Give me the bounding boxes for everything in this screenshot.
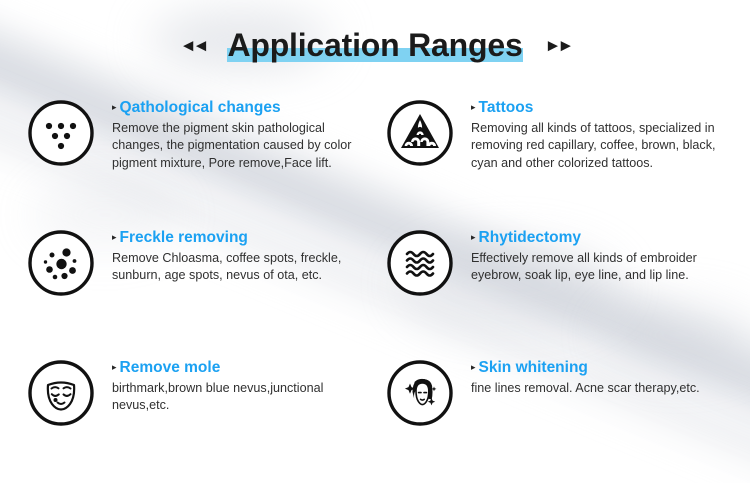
application-ranges-grid: ▸Qathological changes Remove the pigment… xyxy=(0,92,750,472)
bullet-icon: ▸ xyxy=(112,102,117,112)
bullet-icon: ▸ xyxy=(471,102,476,112)
feature-heading-label: Skin whitening xyxy=(479,359,588,376)
double-right-arrow-icon: ►► xyxy=(545,37,571,54)
feature-heading: ▸Rhytidectomy xyxy=(471,228,734,247)
feature-item-remove-mole: ▸Remove mole birthmark,brown blue nevus,… xyxy=(0,352,375,472)
feature-item-rhytidectomy: ▸Rhytidectomy Effectively remove all kin… xyxy=(375,222,750,352)
scattered-dots-icon xyxy=(26,228,96,298)
dots-triangle-icon xyxy=(26,98,96,168)
feature-description: Remove the pigment skin pathological cha… xyxy=(112,120,363,172)
feature-description: Effectively remove all kinds of embroide… xyxy=(471,250,734,285)
feature-description: fine lines removal. Acne scar therapy,et… xyxy=(471,380,734,397)
feature-heading: ▸Qathological changes xyxy=(112,98,363,117)
feature-text-block: ▸Remove mole birthmark,brown blue nevus,… xyxy=(112,352,363,415)
bullet-icon: ▸ xyxy=(471,362,476,372)
feature-text-block: ▸Skin whitening fine lines removal. Acne… xyxy=(471,352,734,397)
feature-heading: ▸Remove mole xyxy=(112,358,363,377)
feature-description: Remove Chloasma, coffee spots, freckle, … xyxy=(112,250,363,285)
feature-item-qathological-changes: ▸Qathological changes Remove the pigment… xyxy=(0,92,375,222)
bullet-icon: ▸ xyxy=(112,362,117,372)
feature-description: birthmark,brown blue nevus,junctional ne… xyxy=(112,380,363,415)
feature-text-block: ▸Rhytidectomy Effectively remove all kin… xyxy=(471,222,734,285)
page-title-wrapper: Application Ranges xyxy=(221,26,528,64)
feature-heading-label: Remove mole xyxy=(120,359,221,376)
feature-heading: ▸Tattoos xyxy=(471,98,734,117)
bullet-icon: ▸ xyxy=(112,232,117,242)
feature-heading-label: Freckle removing xyxy=(120,229,248,246)
feature-heading: ▸Freckle removing xyxy=(112,228,363,247)
feature-text-block: ▸Tattoos Removing all kinds of tattoos, … xyxy=(471,92,734,172)
woman-face-sparkle-icon xyxy=(385,358,455,428)
bullet-icon: ▸ xyxy=(471,232,476,242)
page-header: ◄◄ Application Ranges ►► xyxy=(0,26,750,64)
feature-item-freckle-removing: ▸Freckle removing Remove Chloasma, coffe… xyxy=(0,222,375,352)
feature-heading: ▸Skin whitening xyxy=(471,358,734,377)
page-title: Application Ranges xyxy=(227,27,522,63)
feature-heading-label: Rhytidectomy xyxy=(479,229,582,246)
feature-description: Removing all kinds of tattoos, specializ… xyxy=(471,120,734,172)
feature-item-skin-whitening: ▸Skin whitening fine lines removal. Acne… xyxy=(375,352,750,472)
wrinkle-waves-icon xyxy=(385,228,455,298)
feature-item-tattoos: ▸Tattoos Removing all kinds of tattoos, … xyxy=(375,92,750,222)
feature-text-block: ▸Qathological changes Remove the pigment… xyxy=(112,92,363,172)
feature-heading-label: Qathological changes xyxy=(120,99,281,116)
feature-text-block: ▸Freckle removing Remove Chloasma, coffe… xyxy=(112,222,363,285)
feature-heading-label: Tattoos xyxy=(479,99,534,116)
face-with-mole-icon xyxy=(26,358,96,428)
application-ranges-page: ◄◄ Application Ranges ►► ▸Qa xyxy=(0,0,750,483)
double-left-arrow-icon: ◄◄ xyxy=(180,37,206,54)
tribal-triangle-tattoo-icon xyxy=(385,98,455,168)
